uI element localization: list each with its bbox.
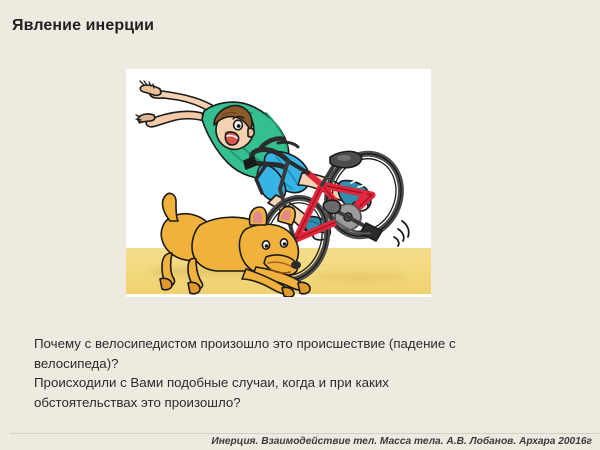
question-line-2: велосипеда)? xyxy=(34,354,574,374)
footer-divider xyxy=(10,433,600,434)
question-line-1: Почему с велосипедистом произошло это пр… xyxy=(34,334,574,354)
question-line-4: обстоятельствах это произошло? xyxy=(34,393,574,413)
cartoon-scene xyxy=(126,69,431,297)
illustration-panel xyxy=(126,69,431,297)
slide-canvas: Явление инерции xyxy=(0,0,600,450)
footer-attribution: Инерция. Взаимодействие тел. Масса тела.… xyxy=(0,436,592,447)
cartoon-artwork xyxy=(126,69,431,297)
question-line-3: Происходили с Вами подобные случаи, когд… xyxy=(34,373,574,393)
page-title: Явление инерции xyxy=(12,17,154,35)
question-text: Почему с велосипедистом произошло это пр… xyxy=(34,334,574,412)
